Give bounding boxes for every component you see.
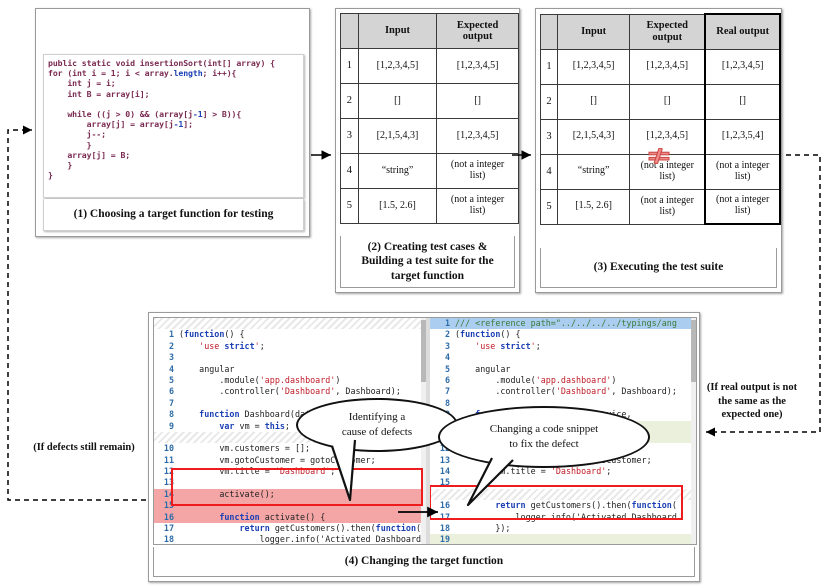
line-number: 13 xyxy=(430,455,450,466)
target-function-source: public static void insertionSort(int[] a… xyxy=(44,55,303,180)
line-number: 6 xyxy=(430,375,450,386)
code-line: 1(function() { xyxy=(154,329,426,340)
cell-expected: [1,2,3,4,5] xyxy=(630,49,706,84)
line-number: 18 xyxy=(430,523,450,534)
cell-input: [1.5, 2.6] xyxy=(558,189,630,224)
callout-fix-defect-text: Changing a code snippetto fix the defect xyxy=(490,422,598,452)
scroll-thumb[interactable] xyxy=(691,320,696,382)
test-suite-table-wrap: Input Expectedoutput 1 [1,2,3,4,5] [1,2,… xyxy=(340,13,519,224)
table-row: 5 [1.5, 2.6] (not a integerlist) xyxy=(341,189,519,224)
callout-identify-defect-text: Identifying acause of defects xyxy=(342,410,412,440)
row-index: 4 xyxy=(341,154,359,189)
cell-real: [] xyxy=(705,84,780,119)
right-pane-scrollbar[interactable] xyxy=(691,318,696,544)
cell-input: [1,2,3,4,5] xyxy=(558,49,630,84)
cell-expected: [1,2,3,4,5] xyxy=(437,49,519,84)
code-line: 2 'use strict'; xyxy=(154,341,426,352)
table-header-row: Input Expectedoutput Real output xyxy=(541,14,781,49)
step2-panel: Input Expectedoutput 1 [1,2,3,4,5] [1,2,… xyxy=(335,8,520,293)
real-output-header: Real output xyxy=(705,14,780,49)
test-suite-table: Input Expectedoutput 1 [1,2,3,4,5] [1,2,… xyxy=(340,13,519,224)
fixed-snippet-box-right xyxy=(430,486,682,519)
line-number: 9 xyxy=(154,421,174,432)
code-line: 16 function activate() { xyxy=(154,512,426,523)
defect-highlight-box-left xyxy=(172,469,422,505)
code-line: 3 xyxy=(154,352,426,363)
line-number: 17 xyxy=(154,523,174,534)
line-number: 11 xyxy=(154,455,174,466)
table-row: 1 [1,2,3,4,5] [1,2,3,4,5] xyxy=(341,49,519,84)
code-line: 18 }); xyxy=(430,523,696,534)
step1-caption: (1) Choosing a target function for testi… xyxy=(74,207,274,221)
cell-expected: (not a integerlist) xyxy=(437,154,519,189)
row-index: 5 xyxy=(541,189,558,224)
line-number: 12 xyxy=(154,466,174,477)
table-row: 2 [] [] xyxy=(341,84,519,119)
callout-identify-defect: Identifying acause of defects xyxy=(296,398,458,452)
cell-expected: [] xyxy=(437,84,519,119)
code-line: 19 xyxy=(430,534,696,544)
line-number: 14 xyxy=(154,489,174,500)
code-line: 5 angular xyxy=(430,364,696,375)
step2-caption: (2) Creating test cases &Building a test… xyxy=(361,240,493,283)
line-number: 19 xyxy=(430,534,450,544)
line-number: 8 xyxy=(154,409,174,420)
feedback-label-defects-remain: (If defects still remain) xyxy=(14,441,154,455)
execution-table-wrap: Input Expectedoutput Real output 1 [1,2,… xyxy=(540,13,781,225)
row-index: 1 xyxy=(541,49,558,84)
cell-input: [] xyxy=(358,84,436,119)
code-line: 4 angular xyxy=(154,364,426,375)
table-row: 1 [1,2,3,4,5] [1,2,3,4,5] [1,2,3,4,5] xyxy=(541,49,781,84)
cell-input: [1,2,3,4,5] xyxy=(358,49,436,84)
line-number: 16 xyxy=(154,512,174,523)
table-row: 5 [1.5, 2.6] (not a integerlist) (not a … xyxy=(541,189,781,224)
line-number: 15 xyxy=(154,500,174,511)
cell-input: [2,1,5,4,3] xyxy=(358,119,436,154)
cell-real: (not a integerlist) xyxy=(705,189,780,224)
table-row: 3 [2,1,5,4,3] [1,2,3,4,5] xyxy=(341,119,519,154)
code-line: 5 .module('app.dashboard') xyxy=(154,375,426,386)
row-index: 2 xyxy=(341,84,359,119)
cell-real: [1,2,3,4,5] xyxy=(705,49,780,84)
code-line: 1/// <reference path="../../../../typing… xyxy=(430,318,696,329)
step1-caption-box: (1) Choosing a target function for testi… xyxy=(43,199,304,231)
line-number: 2 xyxy=(154,341,174,352)
cell-input: [1.5, 2.6] xyxy=(358,189,436,224)
line-number: 10 xyxy=(154,443,174,454)
step1-panel: public static void insertionSort(int[] a… xyxy=(35,8,310,237)
code-line: 6 .module('app.dashboard') xyxy=(430,375,696,386)
step4-caption: (4) Changing the target function xyxy=(345,554,503,568)
expected-output-header: Expectedoutput xyxy=(437,14,519,49)
code-line: 11 vm.gotoCustomer = gotoCustomer; xyxy=(154,455,426,466)
code-line xyxy=(154,318,426,329)
code-line: 17 return getCustomers().then(function( xyxy=(154,523,426,534)
line-number: 7 xyxy=(430,386,450,397)
row-index: 3 xyxy=(341,119,359,154)
target-function-code-block: public static void insertionSort(int[] a… xyxy=(43,54,304,198)
step3-caption: (3) Executing the test suite xyxy=(594,260,724,274)
cell-input: “string” xyxy=(358,154,436,189)
row-index-header xyxy=(341,14,359,49)
row-index-header xyxy=(541,14,558,49)
expected-output-header: Expectedoutput xyxy=(630,14,706,49)
cell-real: [1,2,3,5,4] xyxy=(705,119,780,154)
line-number: 18 xyxy=(154,534,174,544)
feedback-label-output-mismatch: (If real output is notthe same as theexp… xyxy=(681,381,823,422)
code-line: 6 .controller('Dashboard', Dashboard); xyxy=(154,386,426,397)
table-row: 4 “string” (not a integerlist) xyxy=(341,154,519,189)
code-line: 3 'use strict'; xyxy=(430,341,696,352)
row-index: 3 xyxy=(541,119,558,154)
line-number: 3 xyxy=(154,352,174,363)
table-row: 2 [] [] [] xyxy=(541,84,781,119)
cell-input: [2,1,5,4,3] xyxy=(558,119,630,154)
cell-expected: (not a integerlist) xyxy=(437,189,519,224)
code-line: 4 xyxy=(430,352,696,363)
cell-real: (not a integerlist) xyxy=(705,154,780,189)
input-header: Input xyxy=(358,14,436,49)
line-number: 4 xyxy=(430,352,450,363)
line-number: 6 xyxy=(154,386,174,397)
code-line: 14 vm.title = 'Dashboard'; xyxy=(430,466,696,477)
line-number: 1 xyxy=(154,329,174,340)
cell-expected: (not a integerlist) xyxy=(630,189,706,224)
row-index: 2 xyxy=(541,84,558,119)
row-index: 1 xyxy=(341,49,359,84)
line-number: 5 xyxy=(430,364,450,375)
row-index: 5 xyxy=(341,189,359,224)
line-number: 1 xyxy=(430,318,450,329)
cell-input: “string” xyxy=(558,154,630,189)
line-number: 4 xyxy=(154,364,174,375)
line-number: 3 xyxy=(430,341,450,352)
line-number: 14 xyxy=(430,466,450,477)
step4-caption-box: (4) Changing the target function xyxy=(153,547,695,577)
code-line: 18 logger.info('Activated Dashboard xyxy=(154,534,426,544)
step3-caption-box: (3) Executing the test suite xyxy=(540,248,777,288)
code-line: 2(function() { xyxy=(430,329,696,340)
line-number: 5 xyxy=(154,375,174,386)
input-header: Input xyxy=(558,14,630,49)
cell-expected: [] xyxy=(630,84,706,119)
cell-expected: [1,2,3,4,5] xyxy=(437,119,519,154)
line-number: 7 xyxy=(154,398,174,409)
line-number: 13 xyxy=(154,477,174,488)
callout-fix-defect: Changing a code snippetto fix the defect xyxy=(438,406,650,468)
code-line: 7 .controller('Dashboard', Dashboard); xyxy=(430,386,696,397)
not-equal-icon xyxy=(648,148,670,164)
table-header-row: Input Expectedoutput xyxy=(341,14,519,49)
line-number: 2 xyxy=(430,329,450,340)
execution-result-table: Input Expectedoutput Real output 1 [1,2,… xyxy=(540,13,781,225)
step2-caption-box: (2) Creating test cases &Building a test… xyxy=(340,236,515,288)
row-index: 4 xyxy=(541,154,558,189)
cell-input: [] xyxy=(558,84,630,119)
